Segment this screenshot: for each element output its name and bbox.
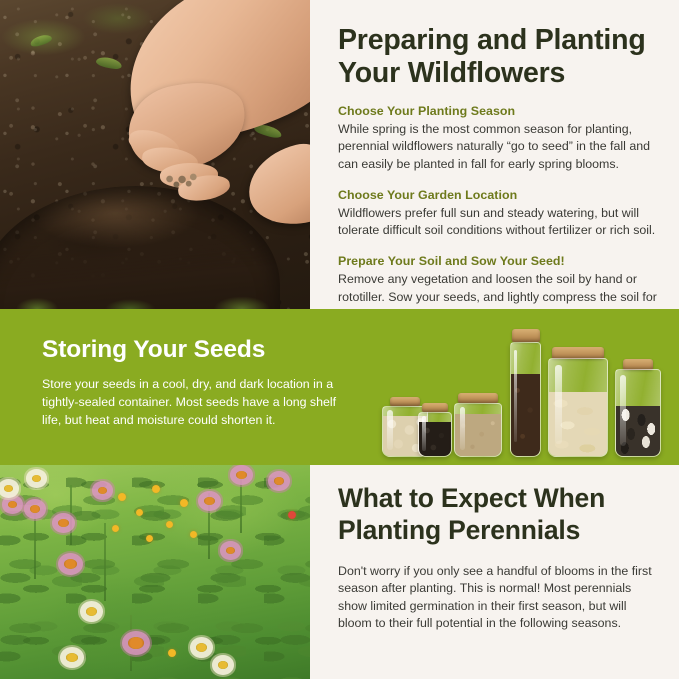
page-title: Preparing and Planting Your Wildflowers xyxy=(338,24,657,91)
daisy-bloom xyxy=(218,661,228,669)
cork-lid xyxy=(422,403,448,412)
body-garden-location: Wildflowers prefer full sun and steady w… xyxy=(338,205,657,240)
glass-highlight xyxy=(460,407,466,450)
title-line-2: Your Wildflowers xyxy=(338,57,565,89)
jar-pumpkin-seeds xyxy=(548,347,608,457)
cork-lid xyxy=(458,393,498,403)
what-to-expect-body: Don't worry if you only see a handful of… xyxy=(338,563,657,633)
jar-sunflower-seeds xyxy=(615,359,661,457)
flower-stem xyxy=(70,485,72,545)
daisy-bloom xyxy=(32,475,41,482)
glass-highlight xyxy=(387,410,392,450)
yellow-bloom xyxy=(168,649,176,657)
infographic-page: Preparing and Planting Your Wildflowers … xyxy=(0,0,679,679)
seed-jars-image xyxy=(370,309,679,465)
coneflower-bloom xyxy=(128,637,144,649)
jar-black-seeds xyxy=(418,403,452,457)
subheading-planting-season: Choose Your Planting Season xyxy=(338,103,657,119)
glass-highlight xyxy=(514,350,517,443)
section-what-to-expect: What to Expect When Planting Perennials … xyxy=(0,465,679,679)
yellow-bloom xyxy=(112,525,119,532)
section-preparing-and-planting: Preparing and Planting Your Wildflowers … xyxy=(0,0,679,309)
section-storing-text: Storing Your Seeds Store your seeds in a… xyxy=(0,309,370,465)
title-line-2: Planting Perennials xyxy=(338,515,580,545)
hands-planting-seeds-image xyxy=(0,0,310,309)
coneflower-bloom xyxy=(274,477,284,485)
jar-glass xyxy=(418,412,452,457)
jar-tall-brown-seeds xyxy=(510,329,541,457)
glass-highlight xyxy=(555,365,562,445)
coneflower-bloom xyxy=(64,559,77,569)
red-bloom xyxy=(288,511,296,519)
yellow-bloom xyxy=(166,521,173,528)
section-storing-your-seeds: Storing Your Seeds Store your seeds in a… xyxy=(0,309,679,465)
coneflower-bloom xyxy=(236,471,247,479)
section-preparing-text: Preparing and Planting Your Wildflowers … xyxy=(310,0,679,309)
subheading-prepare-soil: Prepare Your Soil and Sow Your Seed! xyxy=(338,253,657,269)
flower-stem xyxy=(240,479,242,533)
cork-lid xyxy=(512,329,540,342)
flower-stem xyxy=(34,509,36,579)
jar-glass xyxy=(548,358,608,457)
section-what-to-expect-text: What to Expect When Planting Perennials … xyxy=(310,465,679,679)
daisy-bloom xyxy=(196,643,207,652)
storing-body: Store your seeds in a cool, dry, and dar… xyxy=(42,375,352,429)
coneflower-bloom xyxy=(204,497,215,505)
daisy-bloom xyxy=(66,653,78,662)
glass-highlight xyxy=(620,375,625,446)
daisy-bloom xyxy=(86,607,97,616)
yellow-bloom xyxy=(190,531,197,538)
subheading-garden-location: Choose Your Garden Location xyxy=(338,187,657,203)
jars-group xyxy=(370,309,679,465)
storing-title: Storing Your Seeds xyxy=(42,337,352,364)
yellow-bloom xyxy=(136,509,143,516)
grass-strip xyxy=(0,281,310,309)
glass-highlight xyxy=(422,416,426,451)
yellow-bloom xyxy=(180,499,188,507)
jar-glass xyxy=(454,403,502,457)
coneflower-bloom xyxy=(226,547,235,554)
daisy-bloom xyxy=(4,485,13,492)
coneflower-bloom xyxy=(30,505,40,513)
wildflower-meadow-image xyxy=(0,465,310,679)
yellow-bloom xyxy=(146,535,153,542)
what-to-expect-title: What to Expect When Planting Perennials xyxy=(338,483,657,547)
yellow-bloom xyxy=(152,485,160,493)
jar-glass xyxy=(615,369,661,457)
foliage-texture xyxy=(0,465,310,679)
jar-sand-seeds xyxy=(454,393,502,457)
jar-glass xyxy=(510,342,541,457)
flower-stem xyxy=(104,523,106,601)
yellow-bloom xyxy=(118,493,126,501)
coneflower-bloom xyxy=(98,487,107,494)
coneflower-bloom xyxy=(58,519,69,527)
title-line-1: What to Expect When xyxy=(338,483,605,513)
cork-lid xyxy=(390,397,420,406)
coneflower-bloom xyxy=(8,501,17,508)
title-line-1: Preparing and Planting xyxy=(338,24,646,56)
body-planting-season: While spring is the most common season f… xyxy=(338,121,657,174)
